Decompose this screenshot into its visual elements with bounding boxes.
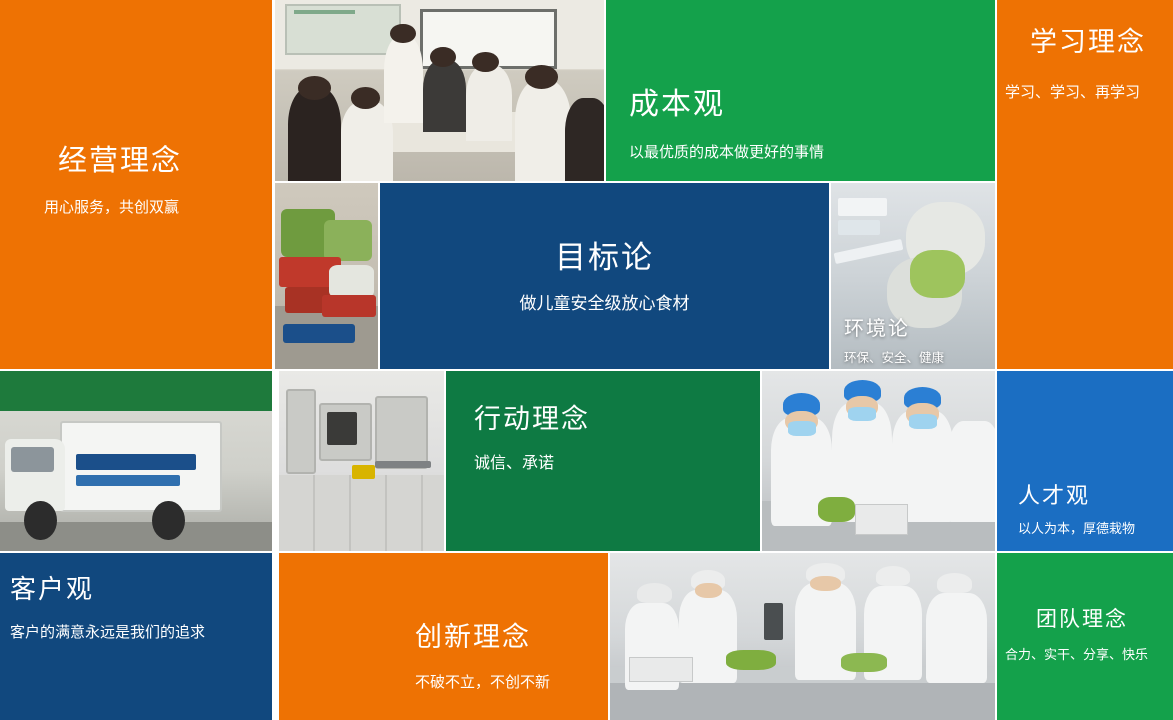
worker-cap: [937, 573, 972, 593]
tile-cost-view[interactable]: 成本观 以最优质的成本做更好的事情: [606, 0, 995, 181]
photo-processing-room: [610, 553, 995, 720]
tile-talent-view-title: 人才观: [1018, 484, 1090, 508]
photo-processing-content: [610, 553, 995, 720]
tile-business-philosophy-title: 经营理念: [58, 146, 182, 178]
kitchen-floor: [279, 475, 444, 551]
worker-coat: [926, 593, 988, 683]
photo-crates-content: [275, 183, 378, 369]
worker-mask: [848, 407, 876, 421]
worker-mask: [909, 414, 937, 428]
crate: [283, 324, 355, 343]
culture-board: 经营理念 用心服务，共创双赢 成本观 以最优质的成本做更好的事情: [0, 0, 1173, 720]
tile-customer-view[interactable]: 客户观 客户的满意永远是我们的追求: [0, 553, 272, 720]
kitchen-shelf: [375, 461, 431, 468]
tile-action-philosophy-subtitle: 诚信、承诺: [474, 454, 554, 475]
processing-vegetable: [841, 653, 887, 671]
truck-banner-text-bar: [76, 475, 179, 486]
lab-vegetable-sample: [818, 497, 855, 522]
truck-banner-text-bar: [76, 454, 196, 470]
photo-lab-workers: [762, 371, 995, 551]
tile-talent-view[interactable]: 人才观 以人为本，厚德栽物: [997, 371, 1173, 551]
tile-cost-view-subtitle: 以最优质的成本做更好的事情: [629, 143, 824, 163]
photo-meeting-content: [275, 0, 604, 181]
meeting-head: [525, 65, 558, 89]
tile-action-philosophy-title: 行动理念: [474, 405, 590, 435]
processing-vegetable: [726, 650, 776, 670]
photo-meeting: [275, 0, 604, 181]
meeting-person: [423, 60, 466, 132]
truck-wheel: [152, 501, 185, 541]
tile-environment-theory-subtitle: 环保、安全、健康: [844, 350, 944, 366]
photo-delivery-truck: [0, 371, 272, 551]
meeting-projector-screen: [285, 4, 401, 55]
lab-test-strip: [838, 220, 881, 235]
crate: [322, 295, 376, 317]
kitchen-yellow-crate: [352, 465, 375, 479]
tile-action-philosophy[interactable]: 行动理念 诚信、承诺: [446, 371, 760, 551]
processing-crate: [629, 657, 693, 682]
tile-environment-theory-title: 环境论: [844, 318, 910, 340]
truck-green-banner: [0, 371, 272, 411]
tile-goal-theory-subtitle: 做儿童安全级放心食材: [380, 293, 829, 315]
worker-mask: [788, 421, 816, 435]
meeting-person: [288, 87, 341, 181]
lab-pipette: [834, 239, 904, 264]
tile-goal-theory-title: 目标论: [380, 241, 829, 275]
photo-environment-theory[interactable]: 环境论 环保、安全、健康: [831, 183, 995, 369]
kitchen-equipment: [286, 389, 316, 474]
tile-innovation-philosophy-title: 创新理念: [415, 623, 531, 653]
photo-crates: [275, 183, 378, 369]
photo-truck-content: [0, 371, 272, 551]
meeting-person: [384, 36, 423, 123]
meeting-head: [298, 76, 331, 100]
tile-team-philosophy-title: 团队理念: [1036, 608, 1128, 631]
crates-vegetables: [329, 265, 374, 298]
tile-learning-philosophy-subtitle: 学习、学习、再学习: [1005, 83, 1140, 103]
worker-coat: [948, 421, 995, 522]
meeting-person: [565, 98, 604, 181]
tile-customer-view-subtitle: 客户的满意永远是我们的追求: [10, 623, 205, 643]
tile-learning-philosophy[interactable]: 学习理念 学习、学习、再学习: [997, 0, 1173, 369]
kitchen-equipment: [375, 396, 429, 468]
meeting-head: [430, 47, 456, 67]
processing-equipment: [764, 603, 783, 640]
worker-cap: [637, 583, 672, 603]
photo-environment-content: [831, 183, 995, 369]
crates-vegetables: [324, 220, 371, 261]
meeting-person: [515, 80, 571, 181]
lab-test-strip: [838, 198, 887, 217]
meeting-person: [466, 65, 512, 141]
tile-customer-view-title: 客户观: [10, 575, 94, 604]
tile-team-philosophy[interactable]: 团队理念 合力、实干、分享、快乐: [997, 553, 1173, 720]
worker-cap: [876, 566, 911, 586]
lab-sample-box: [855, 504, 908, 535]
worker-face: [695, 583, 722, 598]
kitchen-oven-window: [327, 412, 357, 444]
tile-goal-theory[interactable]: 目标论 做儿童安全级放心食材: [380, 183, 829, 369]
worker-face: [810, 576, 841, 591]
tile-learning-philosophy-title: 学习理念: [1030, 28, 1146, 58]
photo-kitchen: [279, 371, 444, 551]
tile-business-philosophy[interactable]: 经营理念 用心服务，共创双赢: [0, 0, 272, 369]
tile-innovation-philosophy-subtitle: 不破不立，不创不新: [415, 673, 550, 693]
tile-team-philosophy-subtitle: 合力、实干、分享、快乐: [1005, 647, 1148, 664]
truck-window: [11, 447, 55, 472]
meeting-head: [351, 87, 381, 109]
tile-business-philosophy-subtitle: 用心服务，共创双赢: [44, 198, 179, 218]
truck-wheel: [24, 501, 57, 541]
tile-innovation-philosophy[interactable]: 创新理念 不破不立，不创不新: [279, 553, 608, 720]
photo-lab-workers-content: [762, 371, 995, 551]
lab-lettuce-sample: [910, 250, 966, 298]
photo-kitchen-content: [279, 371, 444, 551]
tile-talent-view-subtitle: 以人为本，厚德栽物: [1018, 521, 1135, 538]
tile-cost-view-title: 成本观: [629, 88, 725, 121]
